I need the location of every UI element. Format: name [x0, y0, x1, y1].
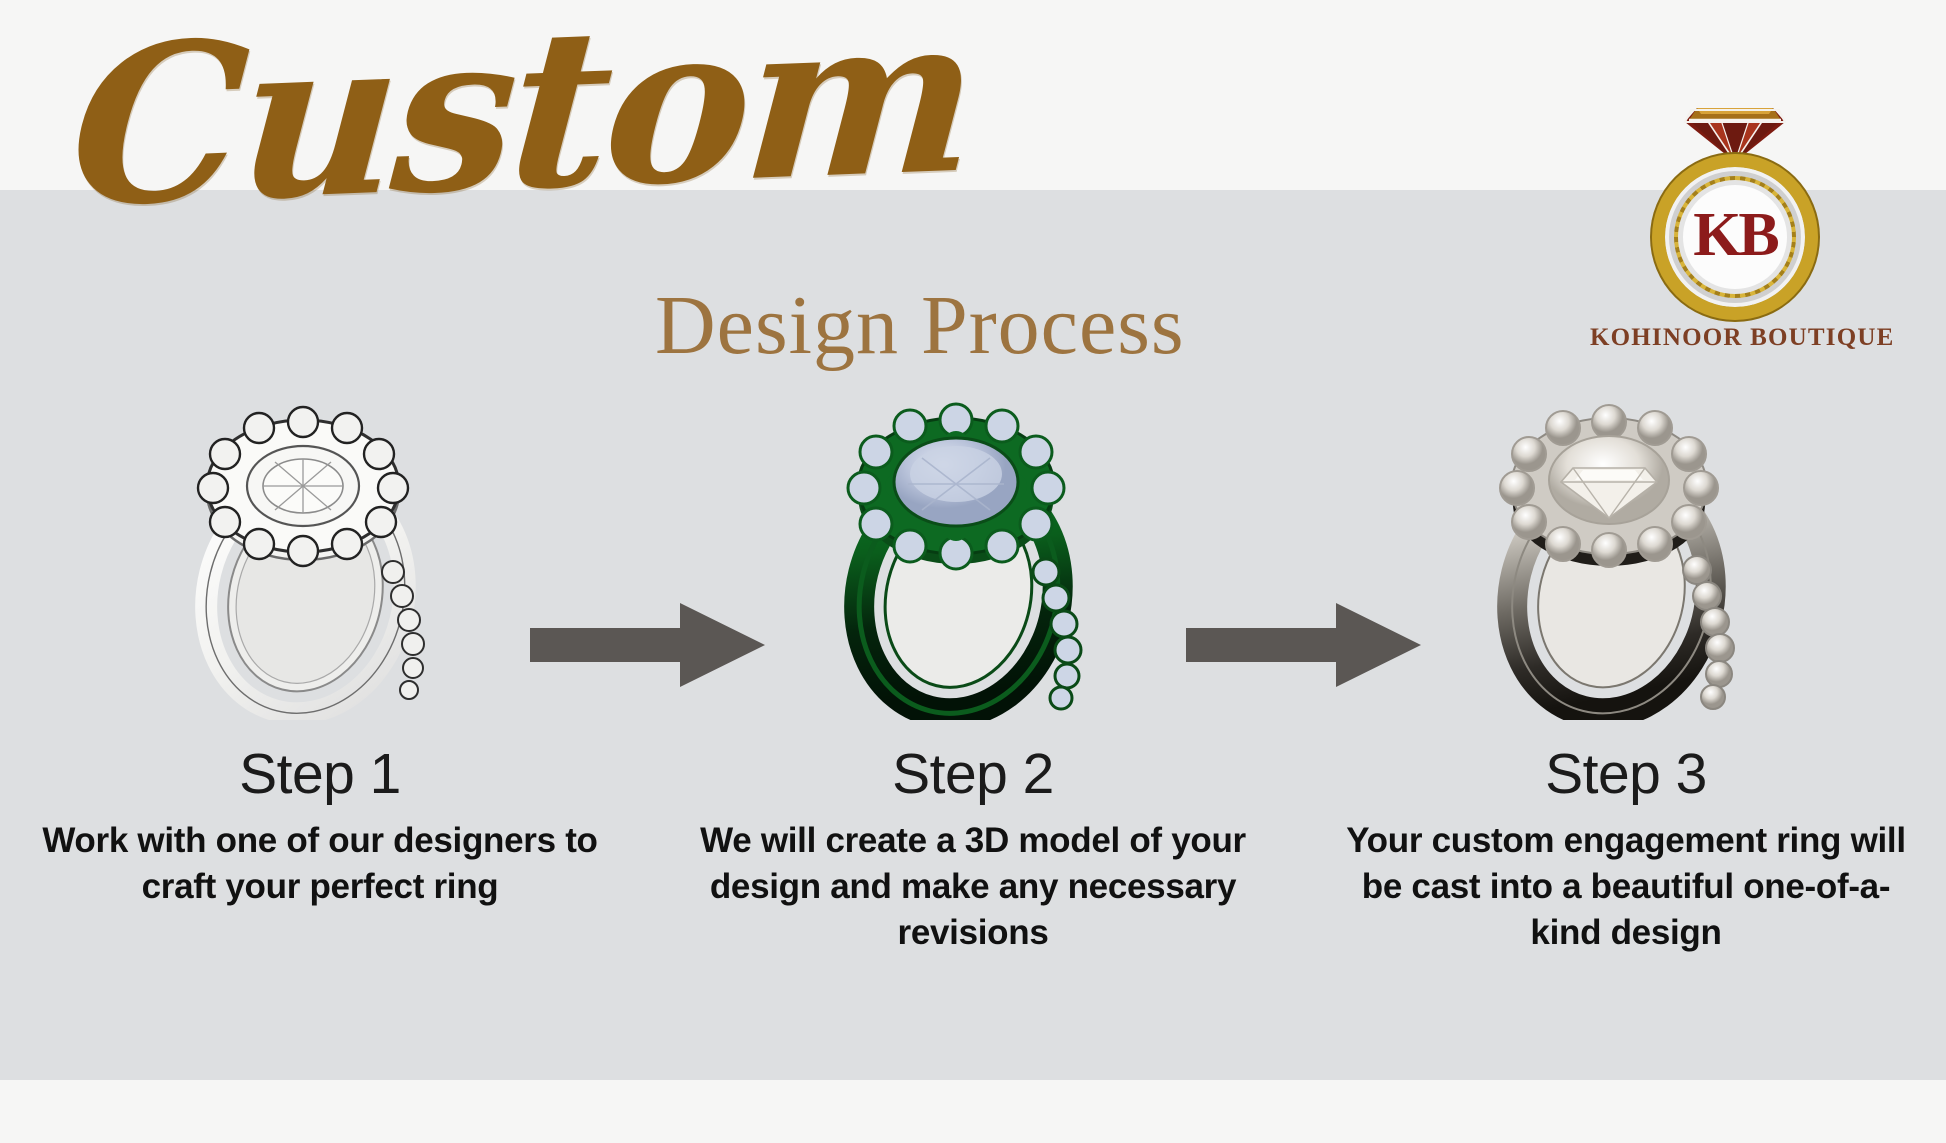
green-3d-model-ring-icon — [808, 400, 1138, 720]
step-card-3: Step 3 Your custom engagement ring will … — [1316, 400, 1936, 1080]
step-1-description: Work with one of our designers to craft … — [10, 818, 630, 910]
steps-row: Step 1 Work with one of our designers to… — [0, 400, 1946, 1080]
step-3-title: Step 3 — [1316, 742, 1936, 806]
arrow-right-icon-2 — [1186, 597, 1421, 693]
laurel-wreath-ring-icon: KB — [1652, 154, 1818, 320]
poster-canvas: Custom Design Process KB — [0, 0, 1946, 1143]
logo-mark: KB — [1630, 88, 1840, 320]
brand-name: KOHINOOR BOUTIQUE — [1590, 324, 1880, 352]
step-card-2: Step 2 We will create a 3D model of your… — [663, 400, 1283, 1080]
step-card-1: Step 1 Work with one of our designers to… — [10, 400, 630, 1080]
diamond-icon — [1677, 88, 1793, 164]
brand-logo[interactable]: KB KOHINOOR BOUTIQUE — [1590, 88, 1880, 368]
background-band-bottom — [0, 1080, 1946, 1143]
step-1-title: Step 1 — [10, 742, 630, 806]
step-3-ring-image — [1461, 400, 1791, 720]
cad-sketch-ring-icon — [155, 400, 485, 720]
finished-diamond-ring-icon — [1461, 400, 1791, 720]
brand-monogram: KB — [1693, 204, 1777, 266]
step-2-ring-image — [808, 400, 1138, 720]
page-title-script: Custom — [63, 0, 983, 268]
logo-inner-disc: KB — [1678, 180, 1792, 294]
step-2-title: Step 2 — [663, 742, 1283, 806]
arrow-right-icon-1 — [530, 597, 765, 693]
step-3-description: Your custom engagement ring will be cast… — [1316, 818, 1936, 956]
page-subtitle: Design Process — [655, 280, 1395, 372]
step-2-description: We will create a 3D model of your design… — [663, 818, 1283, 956]
step-1-ring-image — [155, 400, 485, 720]
